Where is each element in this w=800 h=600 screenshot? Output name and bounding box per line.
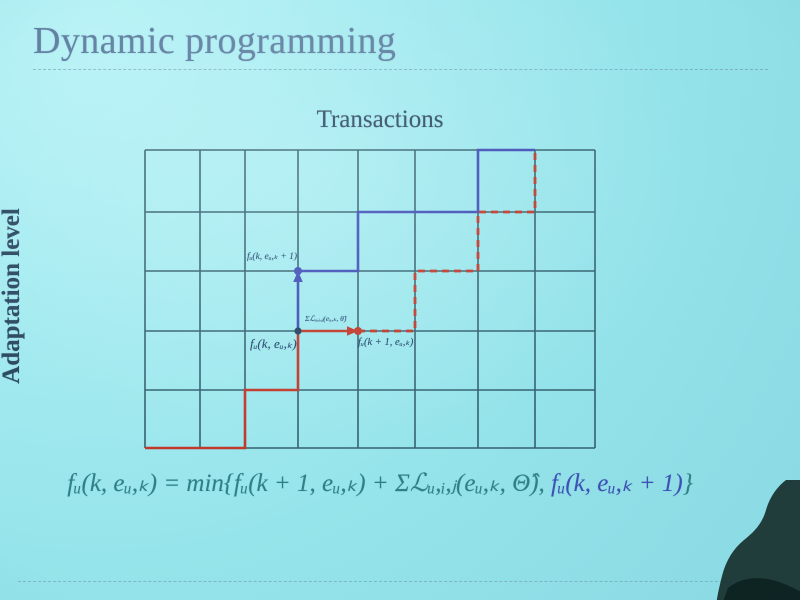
formula-blue-term: fᵤ(k, eᵤ,ₖ + 1) [551, 470, 683, 497]
node-dot-right [354, 327, 362, 335]
grid-svg [0, 0, 800, 600]
formula-rhs: } [683, 470, 693, 497]
red-dashed-path [358, 150, 535, 331]
node-label-right: fᵤ(k + 1, eᵤ,ₖ) [358, 336, 413, 348]
formula-lhs: fᵤ(k, eᵤ,ₖ) = min{fᵤ(k + 1, eᵤ,ₖ) + Σℒᵤ,… [67, 470, 551, 497]
grid-lines [145, 150, 595, 448]
node-label-center: fᵤ(k, eᵤ,ₖ) [250, 336, 297, 352]
edge-label-cost: Σℒᵤ,ᵢ,ⱼ(eᵤ,ₖ, θ̂) [305, 314, 346, 323]
node-label-up: fᵤ(k, eᵤ,ₖ + 1) [247, 251, 297, 262]
bellman-formula: fᵤ(k, eᵤ,ₖ) = min{fᵤ(k + 1, eᵤ,ₖ) + Σℒᵤ,… [0, 468, 760, 498]
footer-divider [18, 581, 778, 582]
node-dot-center [294, 327, 301, 334]
node-dot-up [294, 267, 302, 275]
slide-canvas: Dynamic programming Transactions Adaptat… [0, 0, 800, 600]
blue-continuation-path [298, 150, 535, 271]
dp-grid-diagram: Transactions Adaptation level [0, 0, 800, 600]
